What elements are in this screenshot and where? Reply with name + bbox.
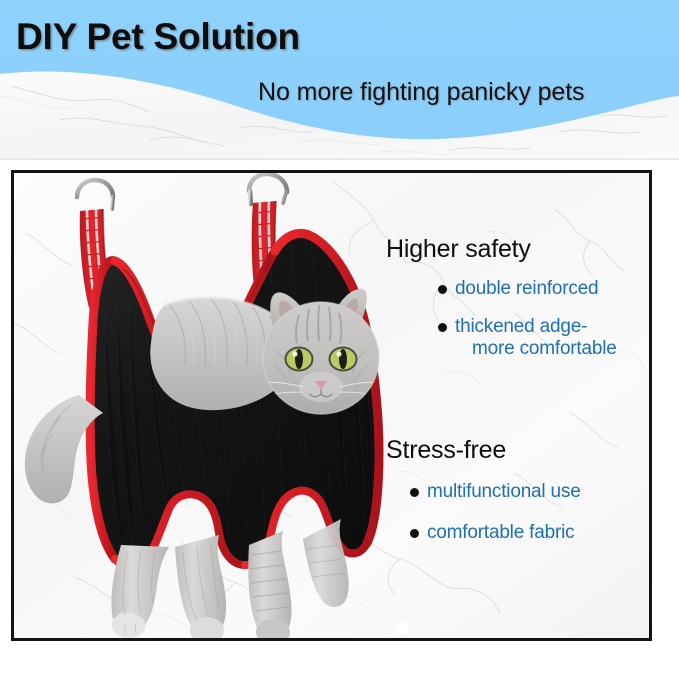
- bullet-list-stress-free: multifunctional use comfortable fabric: [410, 481, 648, 544]
- feature-group-higher-safety: Higher safety double reinforced thickene…: [386, 235, 648, 360]
- bullet-comfortable-fabric: comfortable fabric: [410, 522, 648, 544]
- cat-front-leg-right: [175, 535, 226, 638]
- feature-group-stress-free: Stress-free multifunctional use comforta…: [386, 436, 648, 544]
- bullet-dot-icon: [410, 488, 419, 497]
- bullet-multifunctional-use: multifunctional use: [410, 481, 648, 503]
- product-photo: [17, 173, 389, 638]
- page-subtitle: No more fighting panicky pets: [258, 78, 584, 107]
- bullet-double-reinforced: double reinforced: [438, 278, 648, 300]
- cat-hind-leg-left: [248, 531, 291, 638]
- left-hook-icon: [77, 180, 113, 211]
- hammock-with-cat-illustration: [17, 173, 389, 638]
- bullet-label: double reinforced: [438, 278, 648, 300]
- cat-eye-right: [330, 348, 357, 371]
- cat-head: [261, 289, 381, 414]
- bullet-list-higher-safety: double reinforced thickened adge- more c…: [438, 278, 648, 360]
- bullet-dot-icon: [438, 285, 447, 294]
- bullet-label: comfortable fabric: [410, 522, 648, 544]
- cat-eye-left: [286, 348, 313, 371]
- bullet-label-line2: more comfortable: [438, 338, 648, 360]
- bullet-dot-icon: [438, 323, 447, 332]
- right-hook-icon: [249, 174, 287, 204]
- cat-front-leg-left: [111, 545, 169, 638]
- bullet-dot-icon: [410, 529, 419, 538]
- page-title: DIY Pet Solution: [16, 16, 300, 58]
- bullet-label-line1: thickened adge-: [438, 316, 648, 338]
- feature-heading-higher-safety: Higher safety: [386, 235, 648, 264]
- feature-heading-stress-free: Stress-free: [386, 436, 648, 465]
- bullet-thickened-edge: thickened adge- more comfortable: [438, 316, 648, 360]
- product-marketing-image: DIY Pet Solution No more fighting panick…: [0, 0, 679, 679]
- header-banner: DIY Pet Solution No more fighting panick…: [0, 0, 679, 160]
- content-panel: Higher safety double reinforced thickene…: [11, 170, 652, 641]
- bullet-label: multifunctional use: [410, 481, 648, 503]
